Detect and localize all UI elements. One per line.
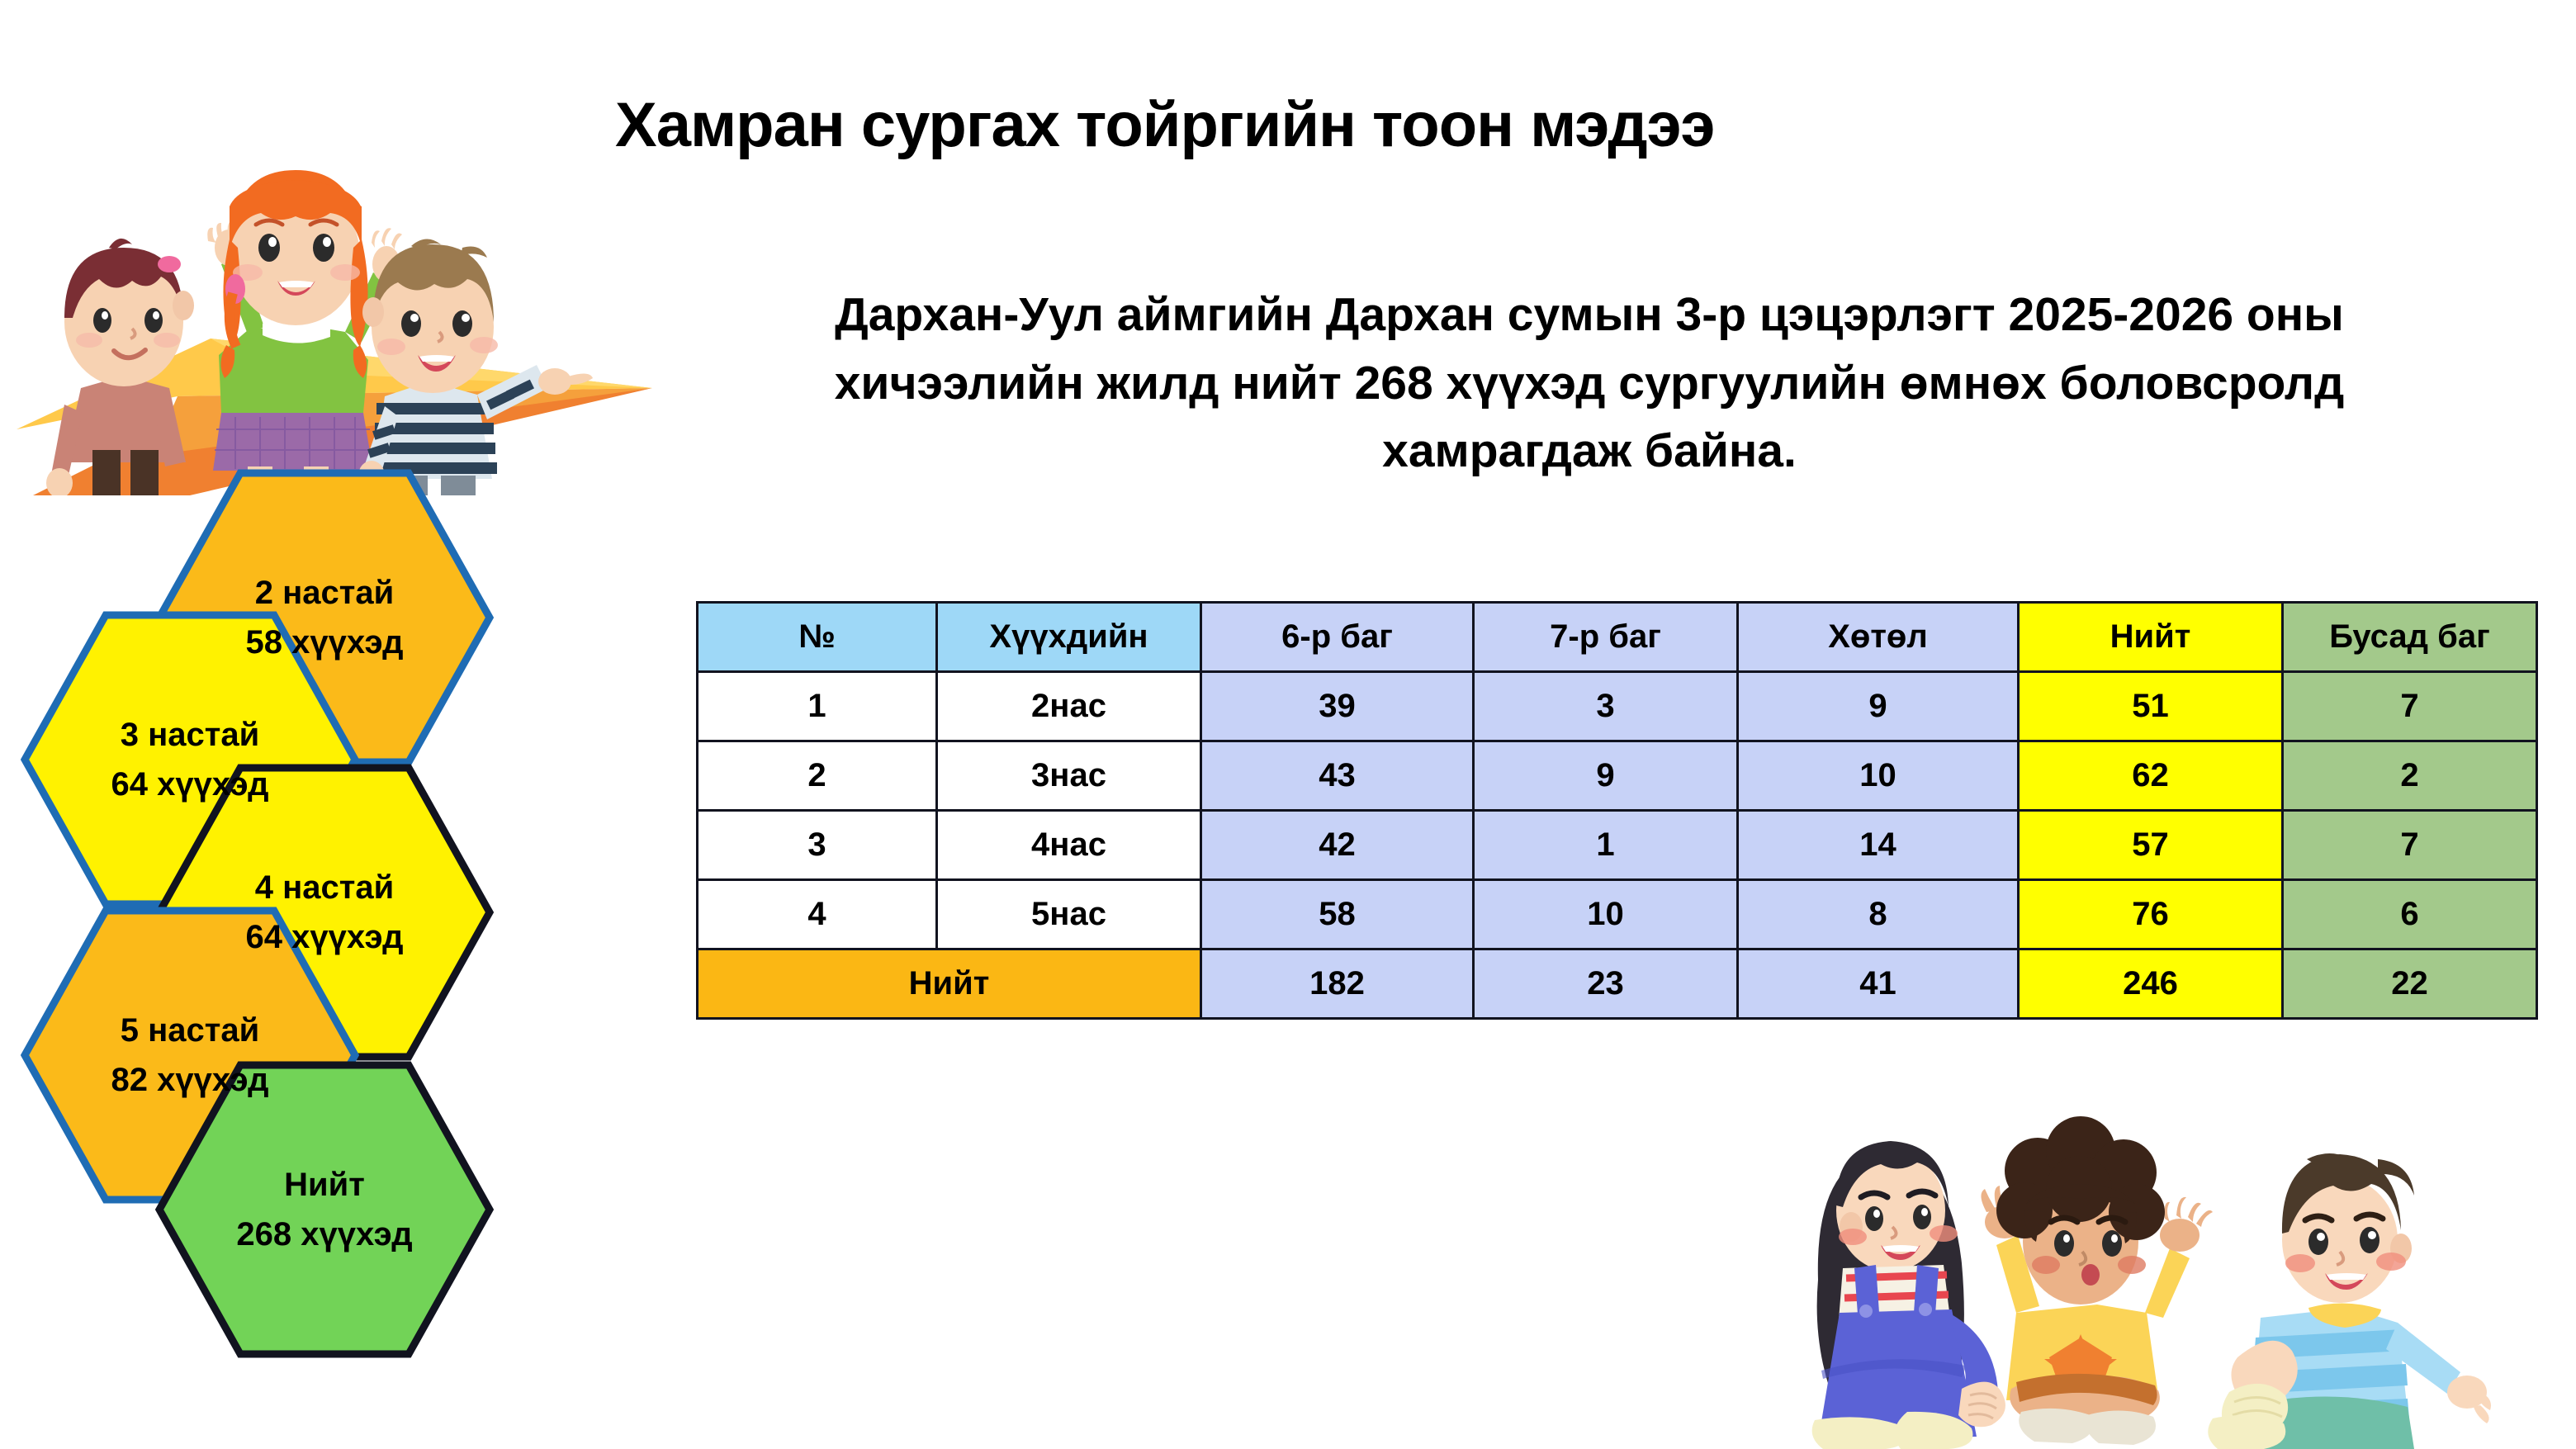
cell-age: 5нас [937, 880, 1201, 949]
table-row: 1 2нас 39 3 9 51 7 [698, 672, 2537, 741]
cell-other: 6 [2283, 880, 2537, 949]
cell-age: 4нас [937, 811, 1201, 880]
cell-total: 76 [2019, 880, 2283, 949]
hexagon-shape-icon [155, 1061, 494, 1358]
cell-age: 2нас [937, 672, 1201, 741]
cell-bag7: 3 [1474, 672, 1738, 741]
cell-total-label: Нийт [698, 949, 1201, 1019]
table-row: 4 5нас 58 10 8 76 6 [698, 880, 2537, 949]
cell-number: 1 [698, 672, 937, 741]
table-header-row: № Хүүхдийн 6-р баг 7-р баг Хөтөл Нийт Бу… [698, 603, 2537, 672]
table-row: 2 3нас 43 9 10 62 2 [698, 741, 2537, 811]
cell-other: 7 [2283, 672, 2537, 741]
page-title: Хамран сургах тойргийн тоон мэдээ [615, 91, 2250, 160]
cell-bag7: 9 [1474, 741, 1738, 811]
column-header-bag7: 7-р баг [1474, 603, 1738, 672]
column-header-bag6: 6-р баг [1201, 603, 1474, 672]
cell-age: 3нас [937, 741, 1201, 811]
hex-total-wrap: Нийт 268 хүүхэд [155, 1061, 494, 1358]
intro-paragraph: Дархан-Уул аймгийн Дархан сумын 3-р цэцэ… [793, 281, 2386, 485]
enrollment-statistics-table: № Хүүхдийн 6-р баг 7-р баг Хөтөл Нийт Бу… [696, 601, 2538, 1020]
cell-bag7: 1 [1474, 811, 1738, 880]
cell-total: 51 [2019, 672, 2283, 741]
cell-bag6: 42 [1201, 811, 1474, 880]
slide-canvas: 2 настай 58 хүүхэд 3 настай 64 хүүхэд 4 … [0, 0, 2576, 1449]
hex-total[interactable]: Нийт 268 хүүхэд [155, 1061, 494, 1358]
column-header-hotol: Хөтөл [1738, 603, 2019, 672]
cell-bag6: 43 [1201, 741, 1474, 811]
table-total-row: Нийт 182 23 41 246 22 [698, 949, 2537, 1019]
cell-other: 2 [2283, 741, 2537, 811]
cell-bag7: 10 [1474, 880, 1738, 949]
seated-kids-illustration [1800, 1065, 2493, 1449]
cell-number: 2 [698, 741, 937, 811]
cell-number: 3 [698, 811, 937, 880]
cell-total-niit: 246 [2019, 949, 2283, 1019]
cell-hotol: 8 [1738, 880, 2019, 949]
cell-other: 7 [2283, 811, 2537, 880]
table-row: 3 4нас 42 1 14 57 7 [698, 811, 2537, 880]
cell-total-hotol: 41 [1738, 949, 2019, 1019]
kids-on-paper-plane-illustration [0, 0, 694, 495]
cell-bag6: 58 [1201, 880, 1474, 949]
cell-total: 62 [2019, 741, 2283, 811]
cell-hotol: 10 [1738, 741, 2019, 811]
cell-hotol: 14 [1738, 811, 2019, 880]
cell-total-other: 22 [2283, 949, 2537, 1019]
cell-total-bag6: 182 [1201, 949, 1474, 1019]
cell-bag6: 39 [1201, 672, 1474, 741]
cell-hotol: 9 [1738, 672, 2019, 741]
cell-total-bag7: 23 [1474, 949, 1738, 1019]
cell-number: 4 [698, 880, 937, 949]
column-header-age: Хүүхдийн [937, 603, 1201, 672]
column-header-total: Нийт [2019, 603, 2283, 672]
column-header-number: № [698, 603, 937, 672]
cell-total: 57 [2019, 811, 2283, 880]
column-header-other-bag: Бусад баг [2283, 603, 2537, 672]
